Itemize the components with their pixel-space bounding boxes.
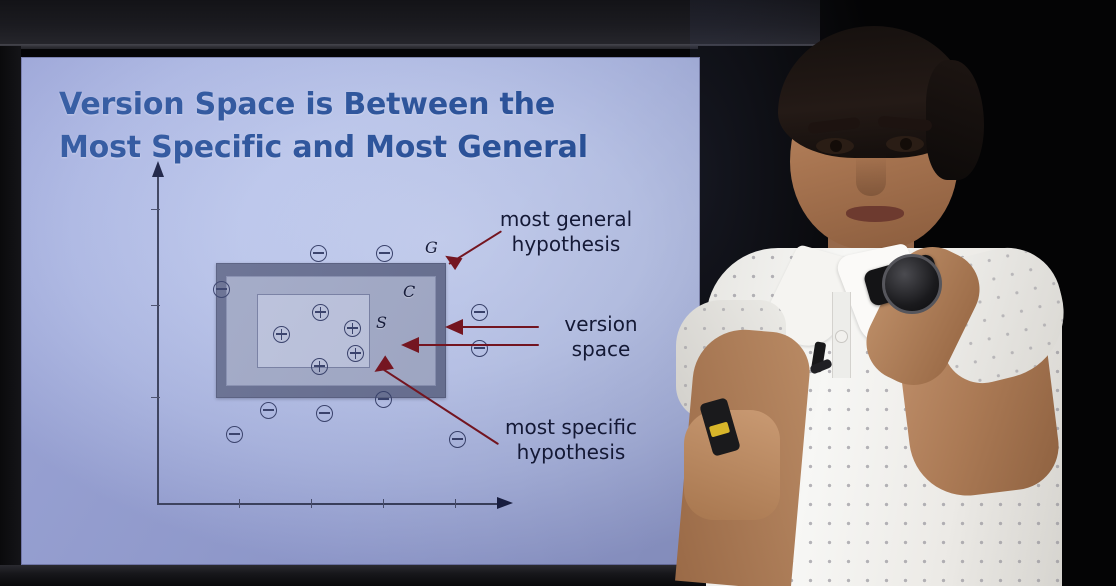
positive-example-marker bbox=[311, 358, 328, 375]
y-axis bbox=[157, 175, 159, 505]
x-axis bbox=[157, 503, 504, 505]
positive-example-marker bbox=[347, 345, 364, 362]
positive-example-marker bbox=[273, 326, 290, 343]
positive-example-marker bbox=[312, 304, 329, 321]
y-axis-tick bbox=[151, 305, 160, 306]
slide-title: Version Space is Between the Most Specif… bbox=[59, 84, 669, 169]
negative-example-marker bbox=[226, 426, 243, 443]
presenter-nose bbox=[856, 154, 886, 196]
x-axis-tick bbox=[455, 499, 456, 508]
y-axis-tick bbox=[151, 397, 160, 398]
negative-example-marker bbox=[375, 391, 392, 408]
annotation-most-specific-line2: hypothesis bbox=[466, 440, 676, 465]
annotation-most-general-line2: hypothesis bbox=[466, 232, 666, 257]
annotation-most-general-line1: most general bbox=[466, 207, 666, 232]
annotation-most-specific-line1: most specific bbox=[466, 415, 676, 440]
version-space-arrow-head-upper-icon bbox=[445, 319, 463, 335]
negative-example-marker bbox=[376, 245, 393, 262]
presentation-slide: Version Space is Between the Most Specif… bbox=[21, 57, 700, 565]
negative-example-marker bbox=[316, 405, 333, 422]
presenter-hair-side bbox=[926, 60, 984, 180]
version-space-arrow-head-lower-icon bbox=[401, 337, 419, 353]
display-bezel-left bbox=[0, 46, 21, 566]
presenter-shirt-button bbox=[835, 330, 848, 343]
presenter-pupil-right bbox=[900, 138, 912, 150]
label-C: C bbox=[403, 282, 415, 301]
positive-example-marker bbox=[344, 320, 361, 337]
x-axis-arrow-icon bbox=[497, 497, 513, 509]
presenter bbox=[650, 0, 1116, 586]
negative-example-marker bbox=[471, 304, 488, 321]
wrist-watch-face bbox=[882, 254, 942, 314]
negative-example-marker bbox=[471, 340, 488, 357]
negative-example-marker bbox=[310, 245, 327, 262]
presenter-pupil-left bbox=[830, 140, 842, 152]
x-axis-tick bbox=[239, 499, 240, 508]
x-axis-tick bbox=[311, 499, 312, 508]
x-axis-tick bbox=[383, 499, 384, 508]
label-G: G bbox=[425, 238, 438, 257]
negative-example-marker bbox=[260, 402, 277, 419]
annotation-most-specific: most specific hypothesis bbox=[466, 415, 676, 465]
screenshot-stage: Version Space is Between the Most Specif… bbox=[0, 0, 1116, 586]
y-axis-tick bbox=[151, 209, 160, 210]
annotation-most-general: most general hypothesis bbox=[466, 207, 666, 257]
slide-title-line-1: Version Space is Between the bbox=[59, 84, 669, 127]
y-axis-arrow-icon bbox=[152, 161, 164, 177]
presenter-mouth bbox=[846, 206, 904, 222]
label-S: S bbox=[376, 313, 387, 332]
negative-example-marker bbox=[213, 281, 230, 298]
negative-example-marker bbox=[449, 431, 466, 448]
slide-title-line-2: Most Specific and Most General bbox=[59, 127, 669, 170]
